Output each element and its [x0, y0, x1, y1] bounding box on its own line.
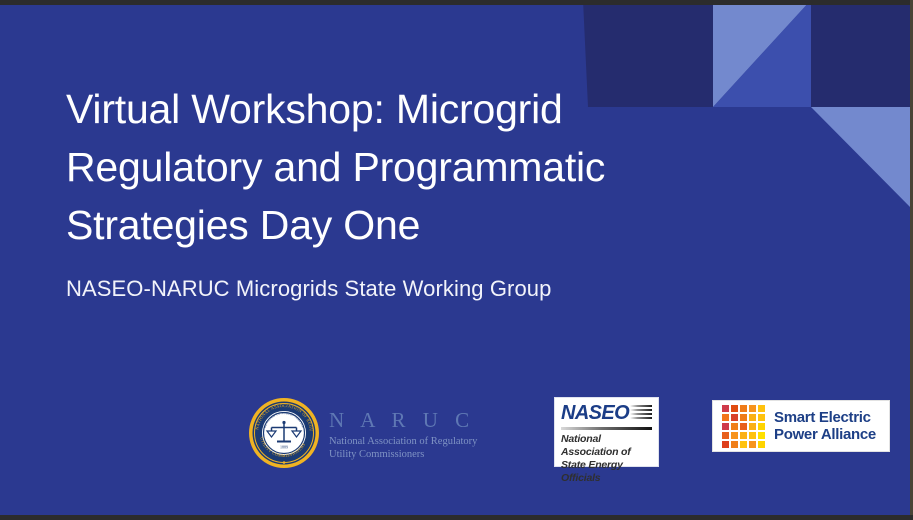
- naruc-logo: NATIONAL ASSOCIATION OF REGULATORY UTILI…: [248, 397, 477, 469]
- svg-text:1889: 1889: [280, 445, 288, 450]
- naseo-stripe-bars-icon: [630, 403, 652, 421]
- naseo-wordmark: NASEO: [561, 403, 629, 424]
- naruc-tagline-line-1: National Association of Regulatory: [329, 436, 477, 447]
- sepa-grid-cell-3-1: [731, 432, 738, 439]
- naruc-seal-icon: NATIONAL ASSOCIATION OF REGULATORY UTILI…: [248, 397, 320, 469]
- slide-frame-top: [0, 0, 913, 5]
- sepa-logo: Smart Electric Power Alliance: [712, 400, 890, 452]
- sepa-grid-cell-2-4: [758, 423, 765, 430]
- sepa-grid-icon: [722, 405, 765, 448]
- naseo-logo: NASEO National Association of State Ener…: [554, 397, 659, 467]
- sepa-grid-cell-1-3: [749, 414, 756, 421]
- sepa-name-line-2: Power Alliance: [774, 426, 876, 443]
- sepa-grid-cell-1-2: [740, 414, 747, 421]
- naseo-divider-rule: [561, 427, 652, 430]
- naseo-mark-row: NASEO: [561, 403, 652, 425]
- naruc-tagline: National Association of Regulatory Utili…: [329, 435, 477, 461]
- sepa-grid-cell-4-3: [749, 441, 756, 448]
- sepa-grid-cell-3-2: [740, 432, 747, 439]
- naruc-wordmark-block: N A R U C National Association of Regula…: [329, 406, 477, 461]
- sepa-grid-cell-2-3: [749, 423, 756, 430]
- sepa-grid-cell-0-3: [749, 405, 756, 412]
- sepa-grid-cell-2-2: [740, 423, 747, 430]
- slide-text-block: Virtual Workshop: MicrogridRegulatory an…: [66, 80, 726, 302]
- naseo-tagline: National Association of State Energy Off…: [561, 433, 652, 485]
- sepa-grid-cell-3-0: [722, 432, 729, 439]
- naseo-tagline-line-2: State Energy Officials: [561, 459, 623, 484]
- sepa-name-line-1: Smart Electric: [774, 409, 871, 426]
- slide-subtitle: NASEO-NARUC Microgrids State Working Gro…: [66, 276, 726, 302]
- naruc-wordmark: N A R U C: [329, 410, 477, 431]
- page-title: Virtual Workshop: MicrogridRegulatory an…: [66, 80, 726, 254]
- sepa-grid-cell-4-4: [758, 441, 765, 448]
- naruc-tagline-line-2: Utility Commissioners: [329, 449, 424, 460]
- sepa-grid-cell-3-4: [758, 432, 765, 439]
- title-line-3: Strategies Day One: [66, 202, 420, 248]
- sepa-grid-cell-4-0: [722, 441, 729, 448]
- slide-frame-bottom: [0, 515, 913, 520]
- sepa-grid-cell-1-0: [722, 414, 729, 421]
- sepa-grid-cell-1-4: [758, 414, 765, 421]
- sepa-grid-cell-4-1: [731, 441, 738, 448]
- sepa-wordmark: Smart Electric Power Alliance: [774, 409, 876, 443]
- presentation-slide: Virtual Workshop: MicrogridRegulatory an…: [0, 0, 913, 520]
- sepa-grid-cell-3-3: [749, 432, 756, 439]
- sepa-grid-cell-2-0: [722, 423, 729, 430]
- sepa-grid-cell-1-1: [731, 414, 738, 421]
- logo-row: NATIONAL ASSOCIATION OF REGULATORY UTILI…: [0, 392, 913, 484]
- sepa-grid-cell-0-0: [722, 405, 729, 412]
- sepa-grid-cell-4-2: [740, 441, 747, 448]
- naseo-tagline-line-1: National Association of: [561, 433, 631, 458]
- sepa-grid-cell-0-4: [758, 405, 765, 412]
- sepa-grid-cell-2-1: [731, 423, 738, 430]
- title-line-2: Regulatory and Programmatic: [66, 144, 605, 190]
- sepa-grid-cell-0-1: [731, 405, 738, 412]
- title-line-1: Virtual Workshop: Microgrid: [66, 86, 563, 132]
- sepa-grid-cell-0-2: [740, 405, 747, 412]
